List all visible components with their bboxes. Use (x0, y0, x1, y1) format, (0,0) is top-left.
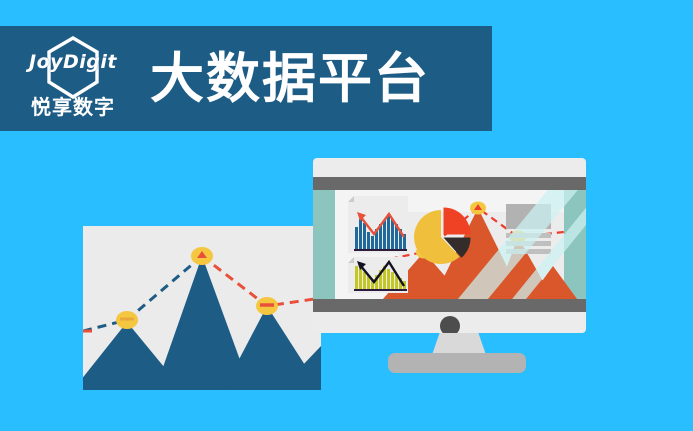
logo-wordmark: JoyDigit (14, 53, 132, 72)
brand-logo: JoyDigit 悦享数字 (14, 29, 132, 129)
page-title: 大数据平台 (150, 52, 430, 106)
poster-canvas: JoyDigit 悦享数字 大数据平台 (0, 0, 693, 431)
dashboard-svg (313, 190, 586, 299)
screen-left-strip (313, 190, 335, 299)
monitor-top-bar (313, 177, 586, 190)
monitor-screen (313, 190, 586, 299)
blue-bar-chart-card (348, 196, 408, 253)
monitor-stand (432, 333, 486, 355)
axis-line (354, 249, 407, 251)
axis-line (354, 289, 407, 291)
header-banner: JoyDigit 悦享数字 大数据平台 (0, 26, 492, 131)
olive-bar-chart-card (348, 257, 408, 293)
mountain-chart-svg (83, 226, 321, 390)
desktop-monitor (313, 158, 586, 333)
logo-subtitle: 悦享数字 (14, 97, 132, 117)
mountain-analytics-panel (83, 226, 321, 390)
monitor-base (388, 353, 526, 373)
monitor-bottom-bar (313, 299, 586, 312)
